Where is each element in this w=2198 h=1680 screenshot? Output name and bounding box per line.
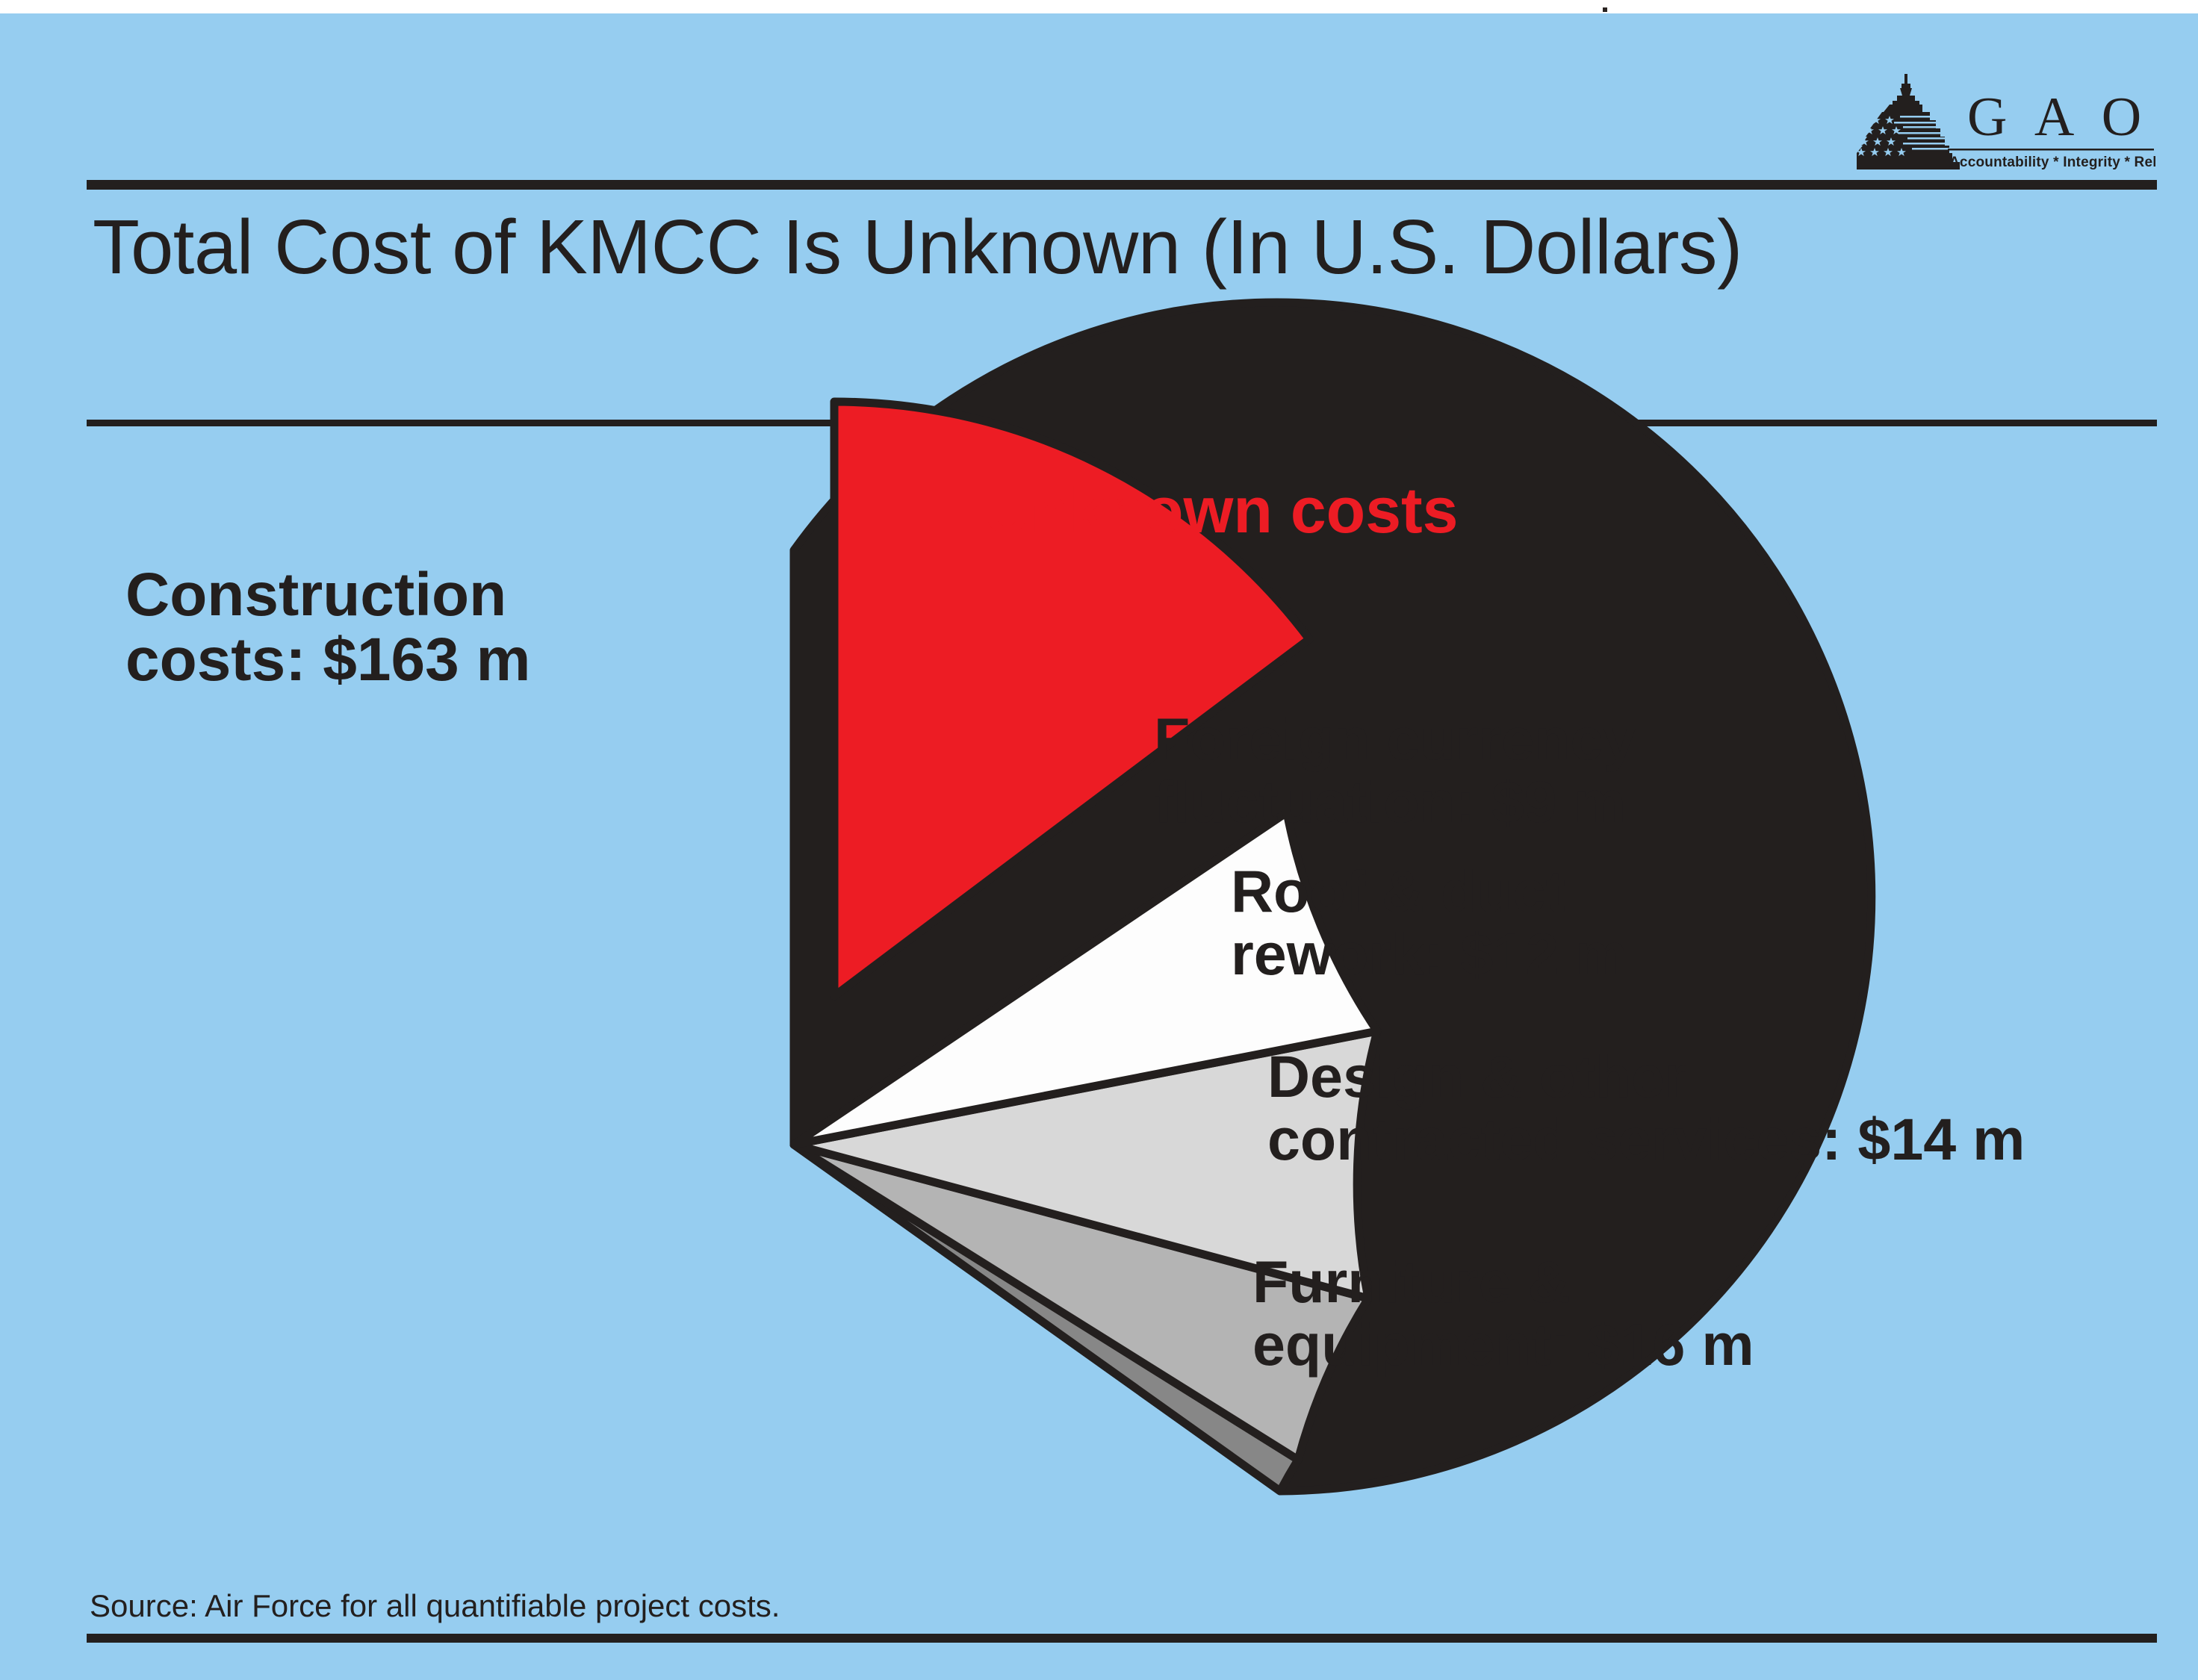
label-foreign-currency: Foreign currency fluctuation: $9 m (1154, 708, 1636, 833)
label-furniture-equipment: Furniture & equipment: $16 m (1252, 1251, 1754, 1375)
label-unknown-costs: Unknown costs (984, 477, 1459, 545)
pie-chart (0, 0, 2198, 1680)
source-note: Source: Air Force for all quantifiable p… (90, 1588, 780, 1624)
label-design-services: Design & other contracted services: $14 … (1267, 1045, 2025, 1170)
footer-rule (87, 1634, 2157, 1643)
label-construction-costs: Construction costs: $163 m (125, 563, 530, 693)
label-roof-duct-rework: Roof & duct rework: $12 m (1231, 860, 1627, 985)
gao-figure-page: G A O Accountability * Integrity * Relia… (0, 0, 2198, 1680)
